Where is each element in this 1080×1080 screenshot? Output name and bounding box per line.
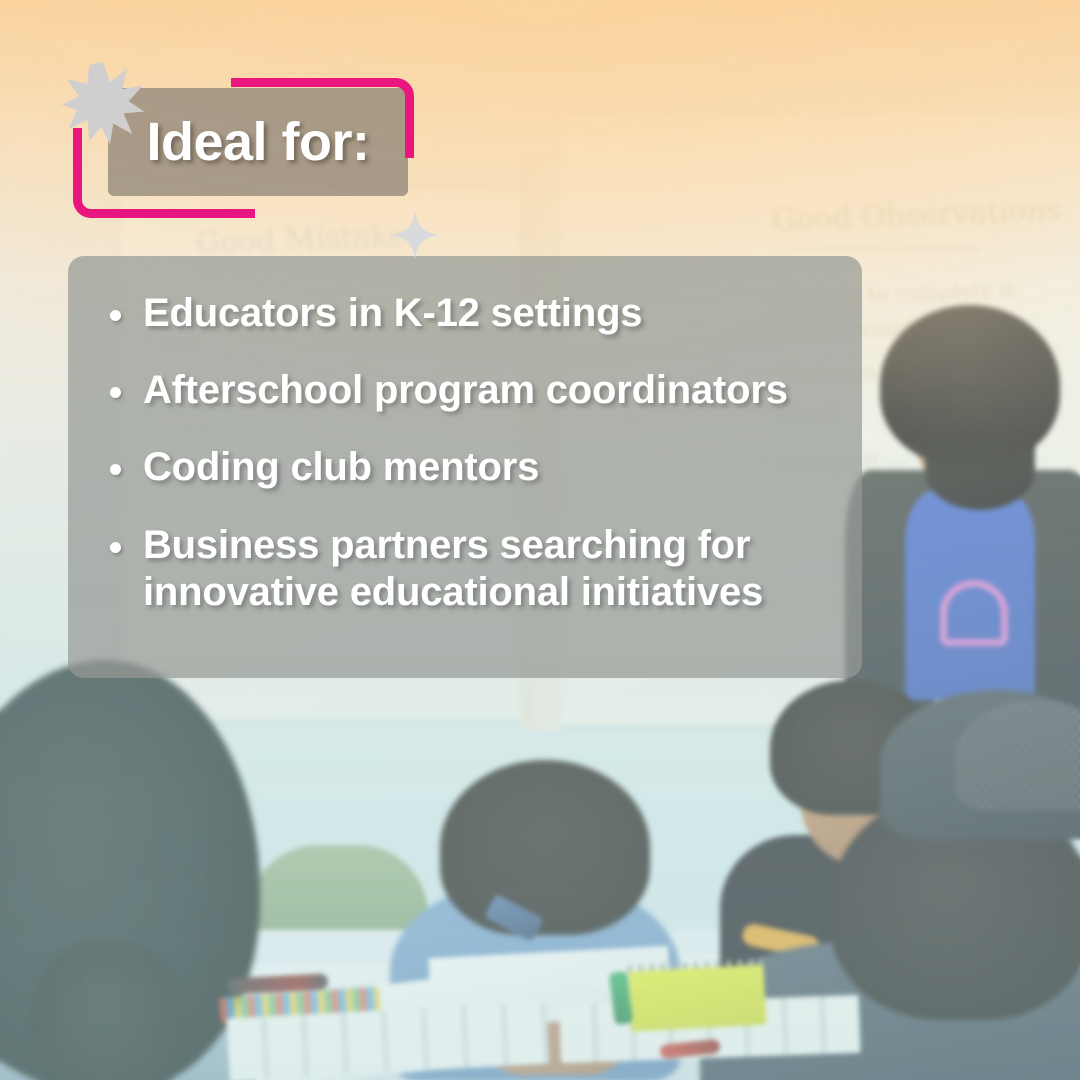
- bracket-top-right: [231, 78, 414, 158]
- social-slide: Good Mistakes the .... I did ... Good Ob…: [0, 0, 1080, 1080]
- bullet-dot-icon: [110, 542, 121, 553]
- ideal-for-panel: Educators in K-12 settings Afterschool p…: [68, 256, 862, 678]
- bullet-text: Coding club mentors: [143, 444, 539, 491]
- bullet-dot-icon: [110, 387, 121, 398]
- bullet-text: Business partners searching for innovati…: [143, 522, 832, 616]
- list-item: Coding club mentors: [102, 444, 832, 491]
- four-point-sparkle-icon: [390, 210, 440, 260]
- list-item: Business partners searching for innovati…: [102, 522, 832, 616]
- list-item: Educators in K-12 settings: [102, 290, 832, 337]
- bullet-dot-icon: [110, 310, 121, 321]
- bullet-dot-icon: [110, 464, 121, 475]
- bullet-text: Educators in K-12 settings: [143, 290, 642, 337]
- bullet-text: Afterschool program coordinators: [143, 367, 788, 414]
- bracket-bottom-left: [73, 128, 255, 218]
- header-badge: Ideal for:: [60, 60, 430, 225]
- bullet-list: Educators in K-12 settings Afterschool p…: [102, 290, 832, 616]
- list-item: Afterschool program coordinators: [102, 367, 832, 414]
